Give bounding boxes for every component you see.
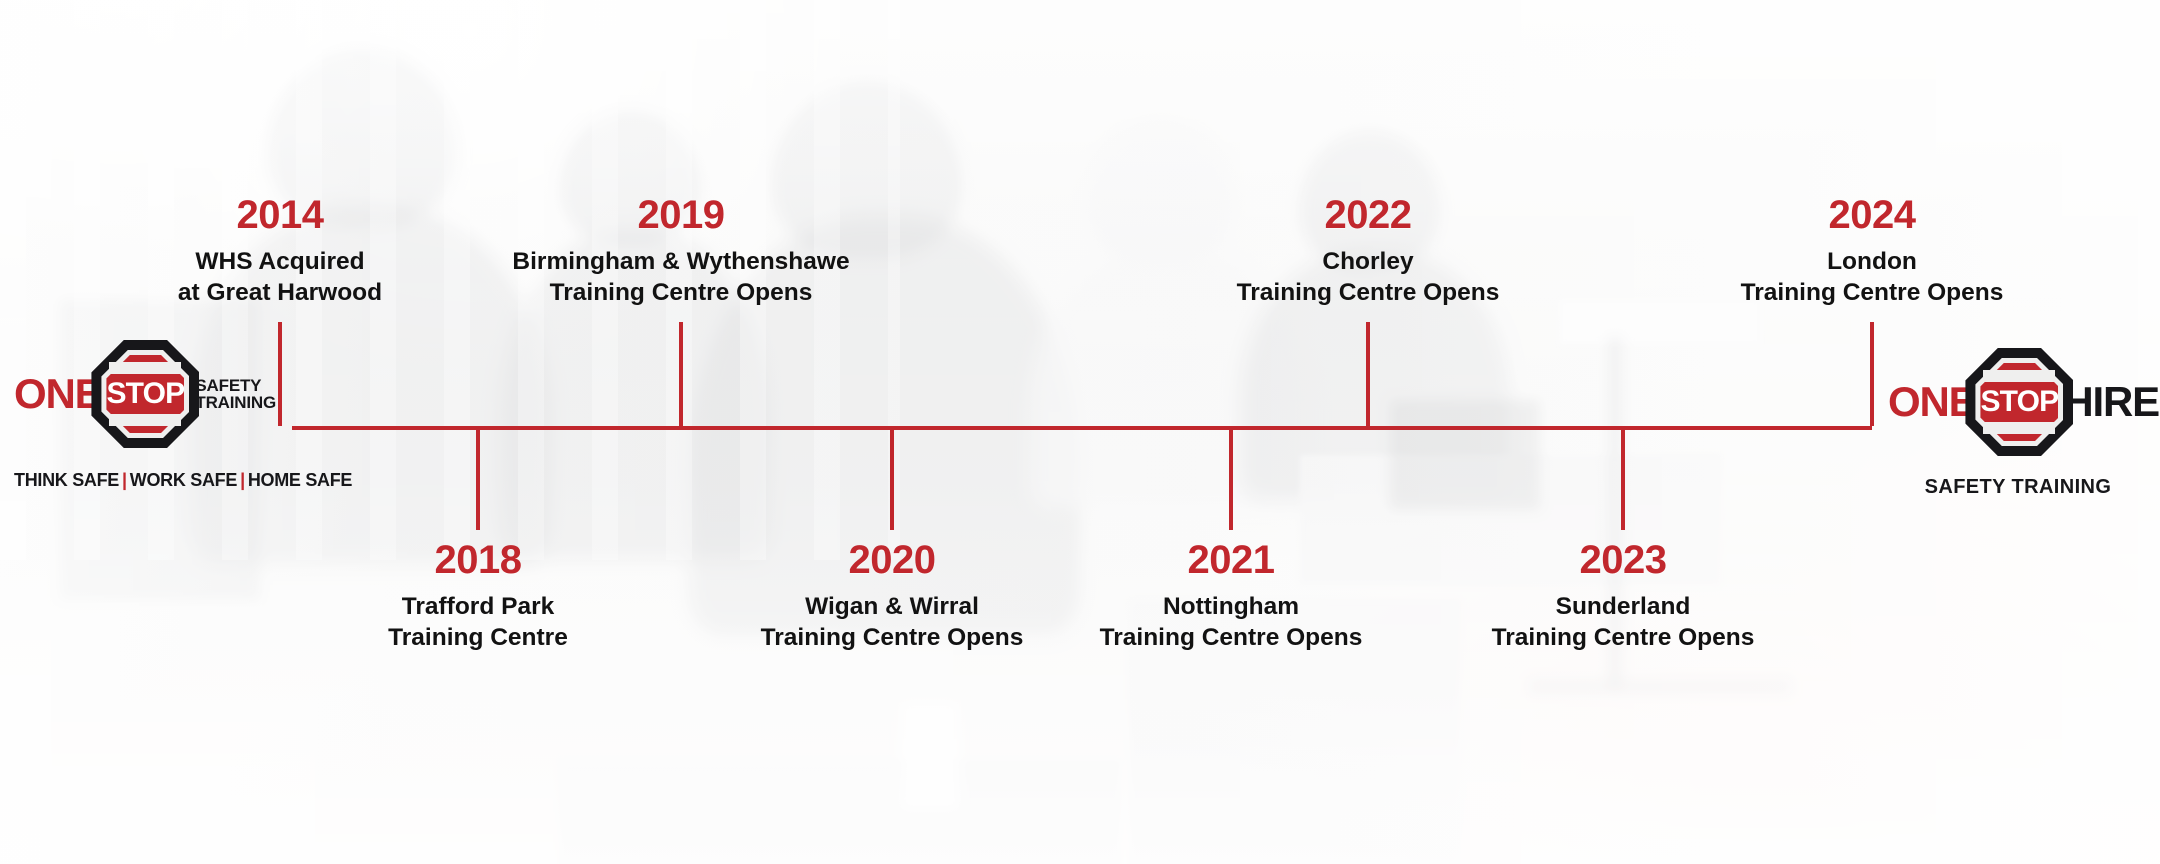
timeline-event-line1: Sunderland [1492,593,1755,620]
timeline-event-2021[interactable]: 2021NottinghamTraining Centre Opens [1100,540,1363,652]
timeline-event-year: 2022 [1237,195,1500,235]
timeline-axis-line [292,426,1872,430]
timeline-event-2018[interactable]: 2018Trafford ParkTraining Centre [388,540,568,652]
timeline-event-line1: Chorley [1237,248,1500,275]
timeline-event-2019[interactable]: 2019Birmingham & WythenshaweTraining Cen… [512,195,849,307]
timeline-event-line2: Training Centre Opens [1492,624,1755,651]
timeline-event-year: 2018 [388,540,568,580]
timeline-event-year: 2024 [1741,195,2004,235]
timeline-event-line2: Training Centre Opens [1237,279,1500,306]
timeline-event-year: 2019 [512,195,849,235]
timeline-connector-2018 [476,426,480,530]
timeline-event-year: 2023 [1492,540,1755,580]
timeline-event-line1: London [1741,248,2004,275]
timeline-event-line1: Nottingham [1100,593,1363,620]
timeline-event-2022[interactable]: 2022ChorleyTraining Centre Opens [1237,195,1500,307]
timeline-connector-2019 [679,322,683,426]
timeline-event-line2: Training Centre Opens [1100,624,1363,651]
timeline-event-year: 2020 [761,540,1024,580]
timeline-graphic: ONE STOP SAFETY TRAINING THINK SAFE|WORK… [0,0,2160,864]
timeline-event-2023[interactable]: 2023SunderlandTraining Centre Opens [1492,540,1755,652]
timeline-event-line2: Training Centre Opens [512,279,849,306]
timeline-connector-2014 [278,322,282,426]
timeline-event-line2: at Great Harwood [178,279,382,306]
timeline-event-line2: Training Centre Opens [761,624,1024,651]
timeline-connector-2022 [1366,322,1370,426]
timeline-event-line2: Training Centre Opens [1741,279,2004,306]
timeline-event-2020[interactable]: 2020Wigan & WirralTraining Centre Opens [761,540,1024,652]
timeline-event-line1: Birmingham & Wythenshawe [512,248,849,275]
timeline-event-line2: Training Centre [388,624,568,651]
timeline-event-year: 2014 [178,195,382,235]
timeline-event-2024[interactable]: 2024LondonTraining Centre Opens [1741,195,2004,307]
timeline-event-line1: Wigan & Wirral [761,593,1024,620]
timeline-connector-2021 [1229,426,1233,530]
timeline-event-2014[interactable]: 2014WHS Acquiredat Great Harwood [178,195,382,307]
timeline-track: 2014WHS Acquiredat Great Harwood2018Traf… [0,0,2160,864]
timeline-connector-2020 [890,426,894,530]
timeline-connector-2023 [1621,426,1625,530]
timeline-event-line1: WHS Acquired [178,248,382,275]
timeline-event-line1: Trafford Park [388,593,568,620]
timeline-connector-2024 [1870,322,1874,426]
timeline-event-year: 2021 [1100,540,1363,580]
